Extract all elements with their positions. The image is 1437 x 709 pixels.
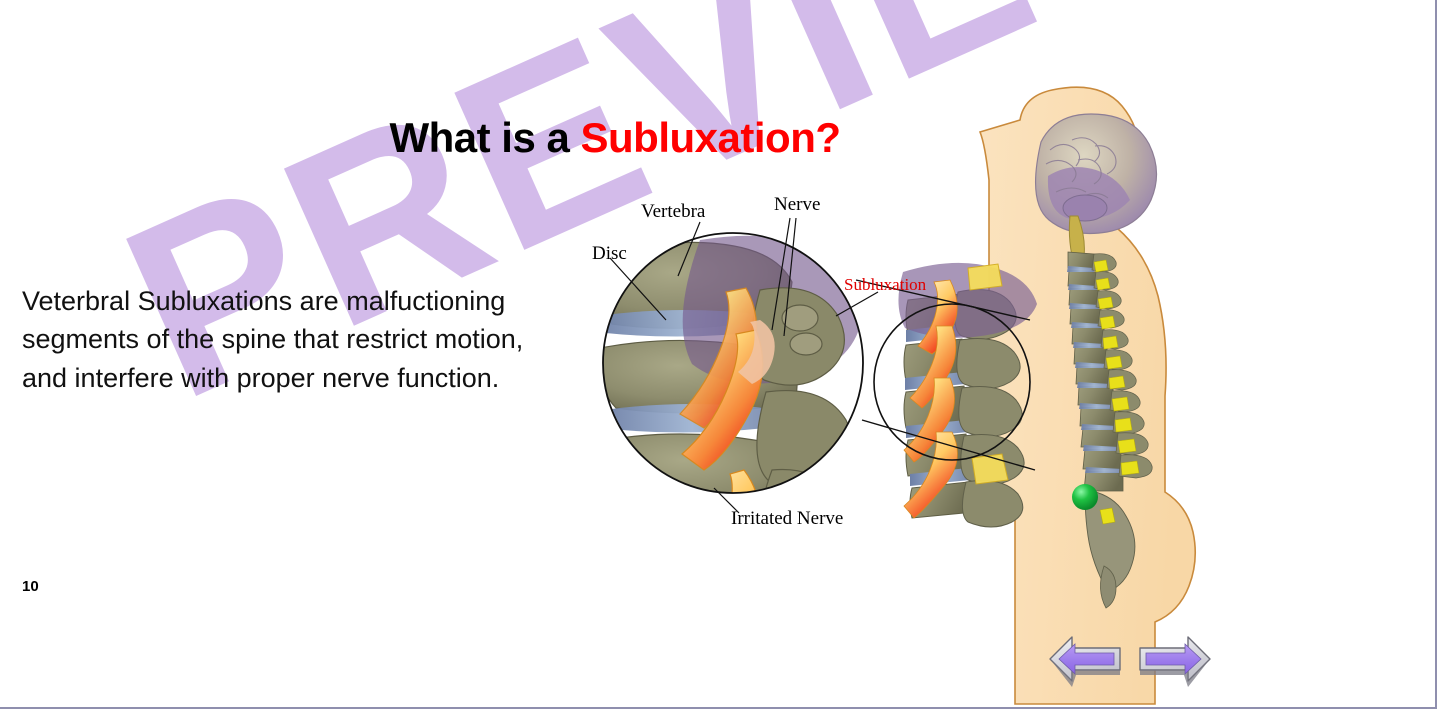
slide-title-accent: Subluxation? [581,114,841,161]
label-nerve: Nerve [774,194,820,216]
slide-navigation [1046,630,1216,688]
label-irritated-nerve: Irritated Nerve [731,508,843,530]
previous-arrow-icon[interactable] [1046,631,1126,687]
label-vertebra: Vertebra [641,201,705,223]
anatomy-diagram-hotspot[interactable] [575,95,1295,615]
label-disc: Disc [592,243,627,265]
next-arrow-icon[interactable] [1134,631,1214,687]
presentation-slide: PREVIEW [0,0,1437,709]
slide-page-number: 10 [22,578,39,595]
slide-body-text: Veterbral Subluxations are malfuctioning… [22,282,567,397]
label-subluxation: Subluxation [844,275,926,295]
slide-title-plain: What is a [389,114,580,161]
slide-title: What is a Subluxation? [0,114,1230,162]
